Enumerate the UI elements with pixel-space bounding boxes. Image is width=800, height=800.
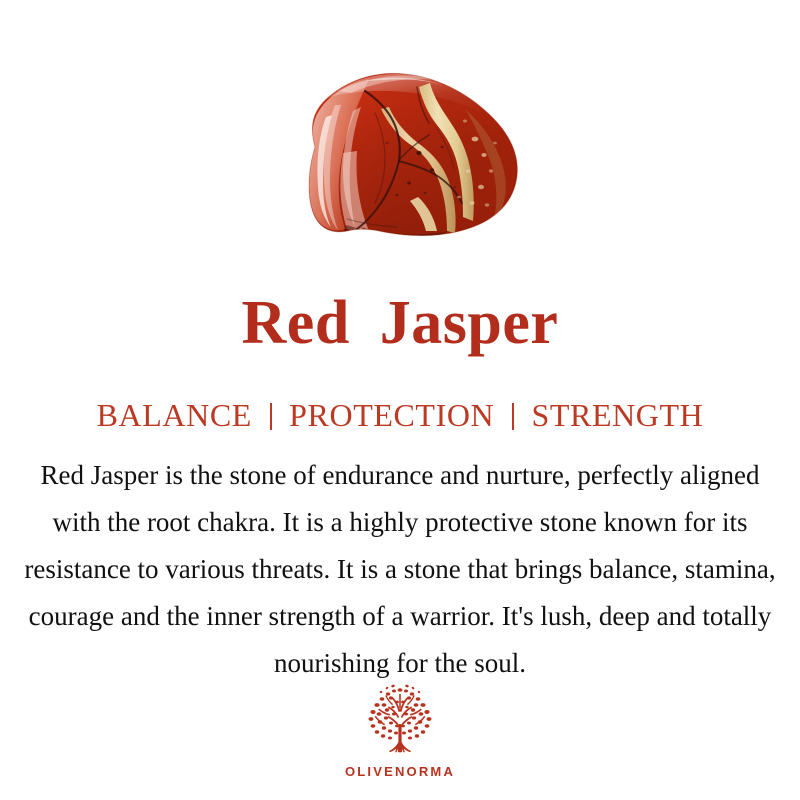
stone-image	[0, 44, 800, 258]
brand-name: OLIVENORMA	[345, 764, 455, 779]
keyword-strength: STRENGTH	[531, 397, 703, 433]
keyword-list: BALANCE PROTECTION STRENGTH	[0, 396, 800, 434]
brand-logo: OLIVENORMA	[0, 684, 800, 779]
page-title: Red Jasper	[0, 288, 800, 358]
product-card: Red Jasper BALANCE PROTECTION STRENGTH R…	[0, 0, 800, 800]
red-jasper-stone-illustration	[269, 51, 531, 251]
keyword-protection: PROTECTION	[289, 397, 494, 433]
stone-body	[269, 51, 531, 251]
tree-of-life-icon	[363, 684, 437, 762]
product-description: Red Jasper is the stone of endurance and…	[14, 452, 786, 687]
keyword-separator-icon	[512, 403, 514, 430]
keyword-separator-icon	[270, 403, 272, 430]
keyword-balance: BALANCE	[97, 397, 252, 433]
